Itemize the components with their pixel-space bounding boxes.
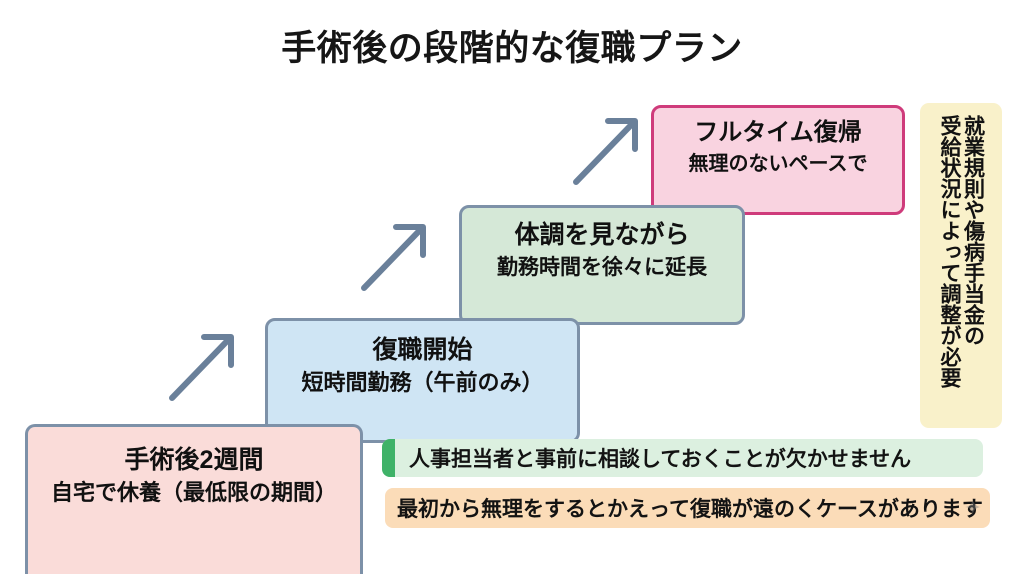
step-box-two-weeks-after-surgery[interactable]: 手術後2週間 自宅で休養（最低限の期間） bbox=[25, 424, 363, 574]
diagram-canvas: 手術後の段階的な復職プラン フルタイム復帰 無理のないペースで 体調を見ながら … bbox=[0, 0, 1024, 559]
side-note-column-right: 就業規則や傷病手当金の bbox=[961, 115, 985, 415]
note-hr-consultation: 人事担当者と事前に相談しておくことが欠かせません bbox=[382, 439, 983, 477]
side-note-column-left: 受給状況によって調整が必要 bbox=[937, 115, 961, 415]
step-headline: 手術後2週間 bbox=[125, 445, 264, 476]
step-headline: フルタイム復帰 bbox=[694, 118, 862, 148]
step-subline: 無理のないペースで bbox=[689, 151, 868, 177]
progression-arrow-2 bbox=[360, 218, 434, 292]
step-box-full-return[interactable]: フルタイム復帰 無理のないペースで bbox=[651, 105, 905, 215]
step-headline: 復職開始 bbox=[372, 335, 472, 366]
step-headline: 体調を見ながら bbox=[514, 220, 689, 251]
step-subline: 自宅で休養（最低限の期間） bbox=[51, 479, 337, 508]
note-accent-bar bbox=[382, 439, 395, 477]
note-text: 人事担当者と事前に相談しておくことが欠かせません bbox=[395, 443, 911, 473]
step-box-monitor-condition[interactable]: 体調を見ながら 勤務時間を徐々に延長 bbox=[459, 205, 745, 325]
progression-arrow-3 bbox=[572, 112, 646, 186]
page-title: 手術後の段階的な復職プラン bbox=[0, 20, 1024, 71]
progression-arrow-1 bbox=[168, 328, 242, 402]
step-subline: 短時間勤務（午前のみ） bbox=[301, 369, 543, 398]
note-text: 最初から無理をするとかえって復職が遠のくケースがあります bbox=[385, 493, 983, 523]
note-overexertion-warning: 最初から無理をするとかえって復職が遠のくケースがあります ✦ bbox=[385, 488, 990, 528]
step-subline: 勤務時間を徐々に延長 bbox=[497, 254, 707, 281]
side-note-panel: 就業規則や傷病手当金の 受給状況によって調整が必要 bbox=[920, 103, 1002, 428]
